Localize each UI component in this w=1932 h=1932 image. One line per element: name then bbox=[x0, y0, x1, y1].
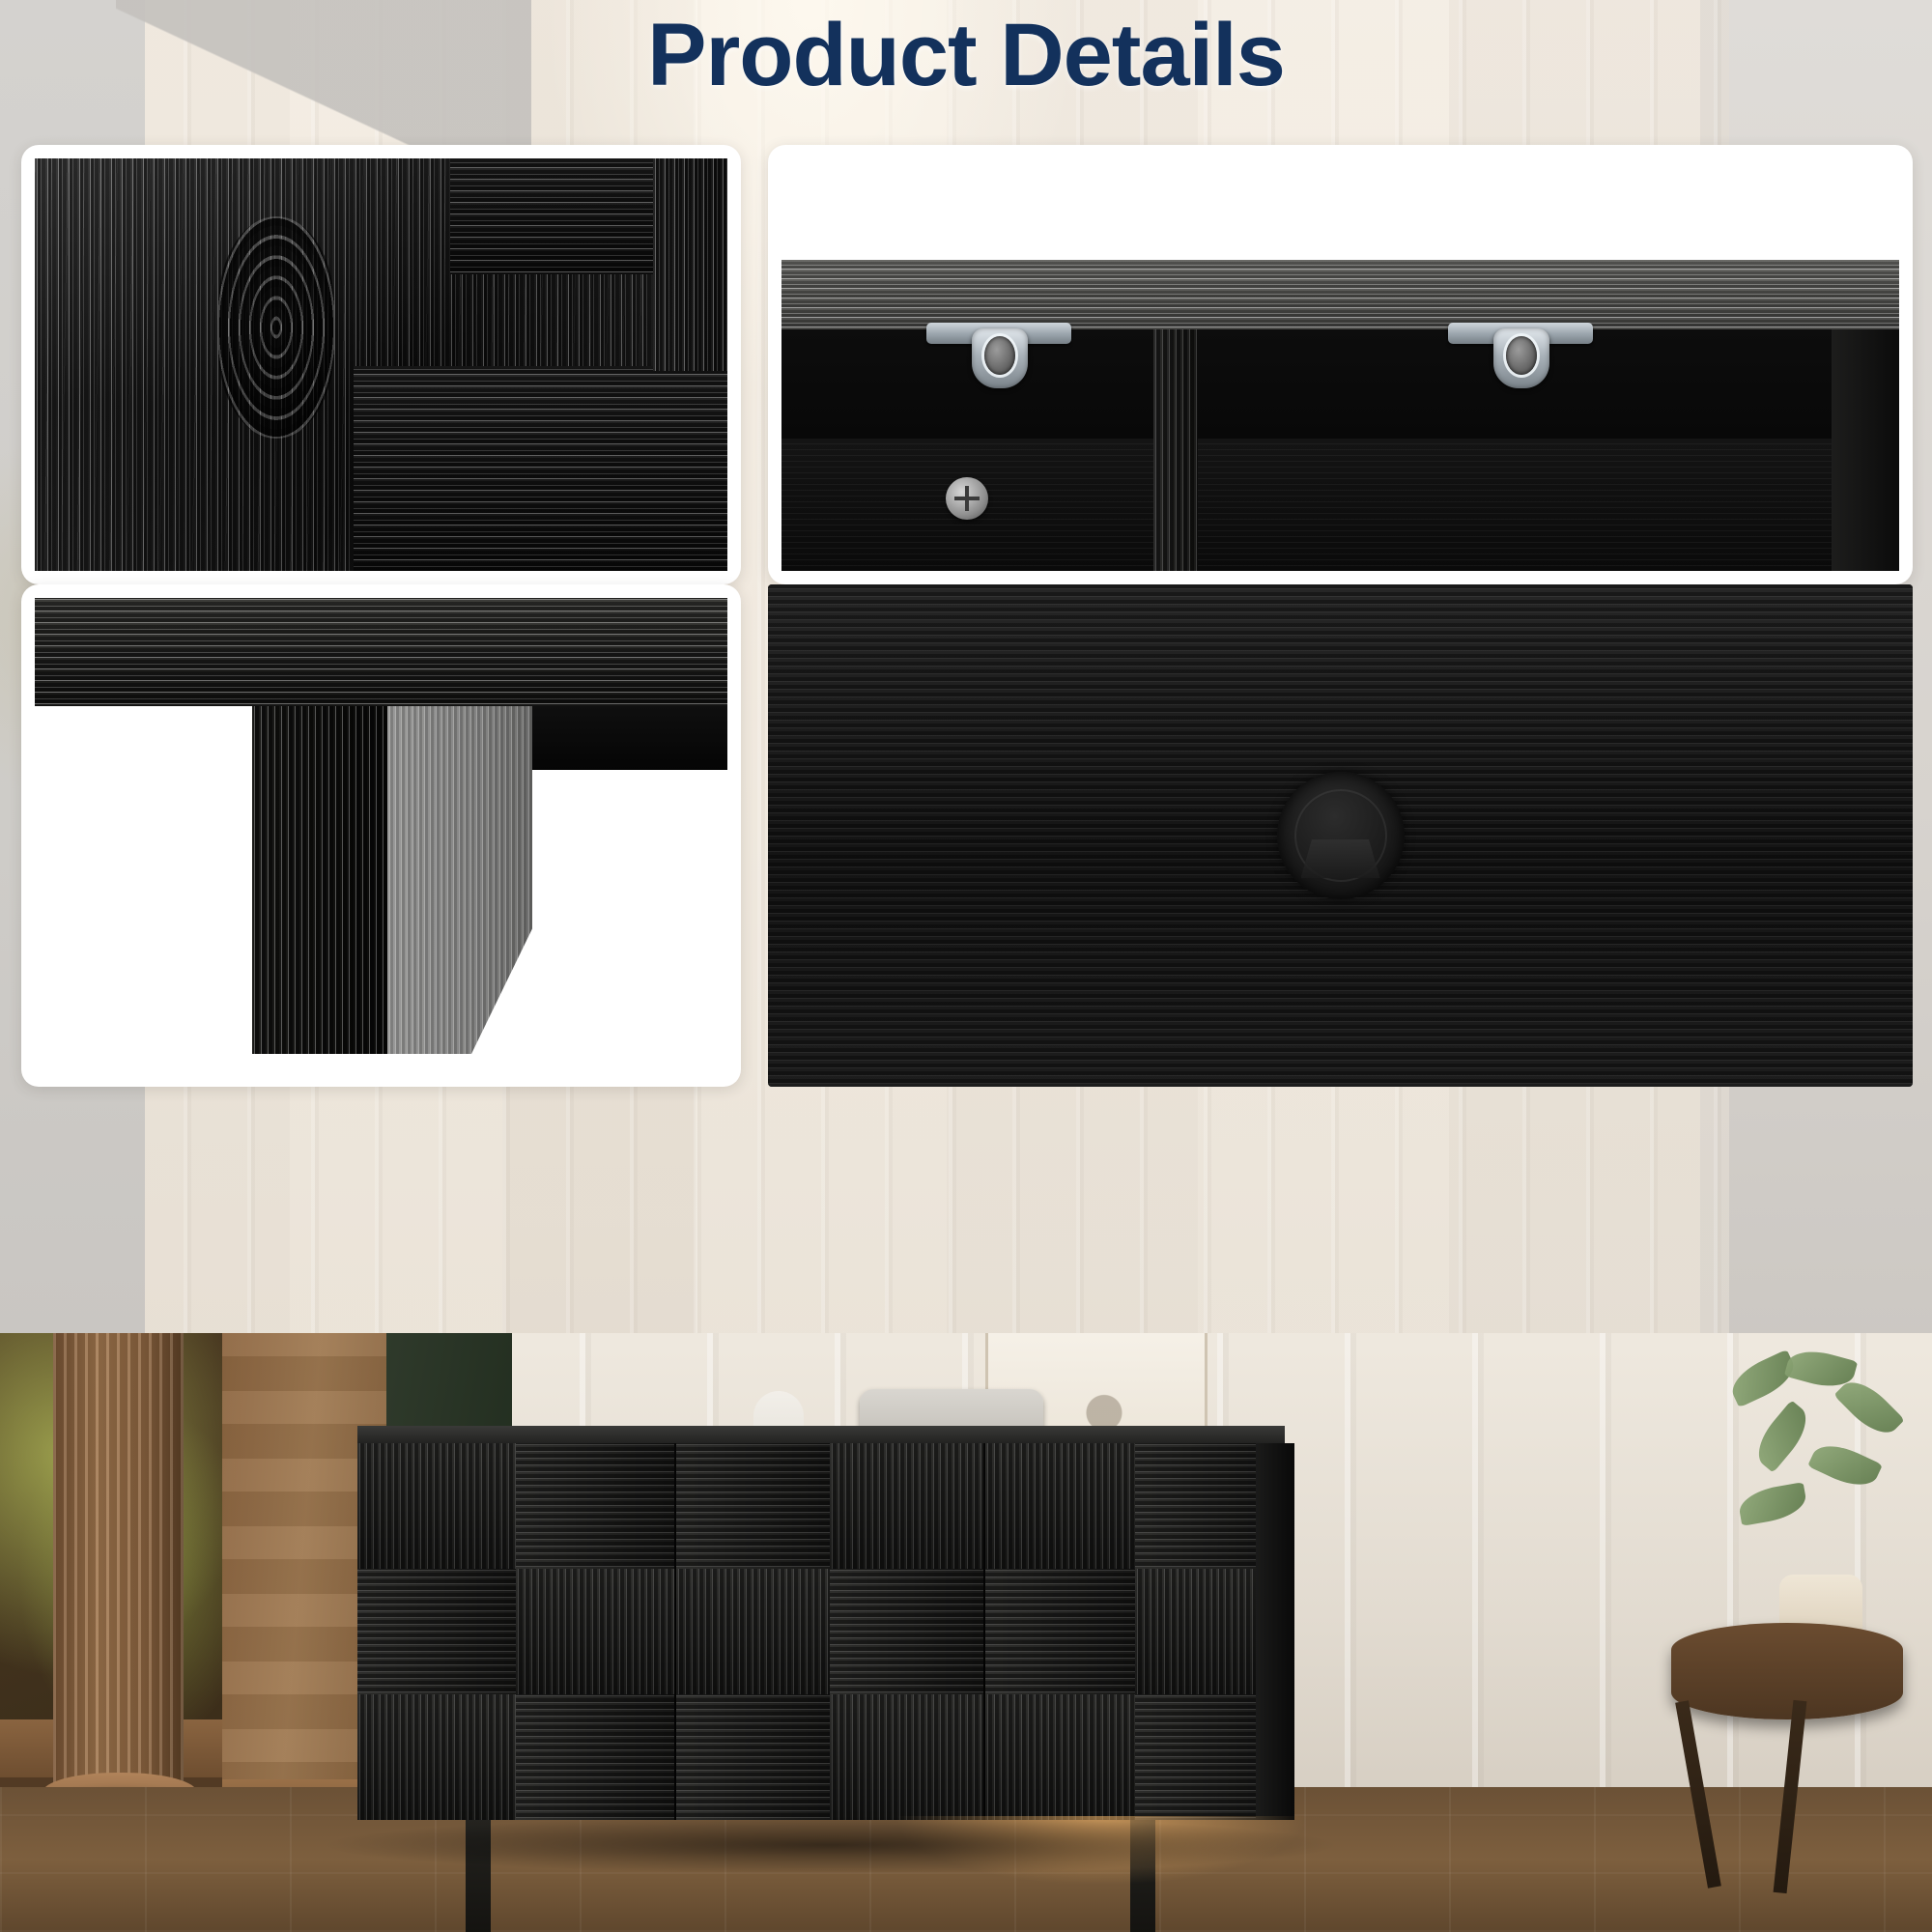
cabinet-center-divider bbox=[1153, 329, 1198, 571]
cabinet-right-post bbox=[1832, 329, 1899, 571]
feature-card-mdf-material: High Quality MDF Material Sturdy and hig… bbox=[21, 145, 741, 584]
photo-frame-wooden-base bbox=[21, 584, 741, 1087]
photo-frame-cable-hole bbox=[768, 584, 1913, 1087]
mdf-top-grain-block bbox=[450, 158, 653, 274]
mdf-wood-knot bbox=[218, 216, 334, 439]
door-grain-tile bbox=[676, 1694, 830, 1820]
door-grain-tile bbox=[985, 1443, 1135, 1569]
plant-leaf bbox=[1807, 1436, 1883, 1494]
cabinet-screw-head bbox=[946, 477, 988, 520]
sideboard-door-right[interactable] bbox=[985, 1443, 1285, 1820]
cabinet-top-rail bbox=[781, 260, 1899, 329]
door-grain-tile bbox=[985, 1694, 1135, 1820]
feature-card-wooden-bases: Sturdy Engineering Wooden Bases Good dur… bbox=[21, 584, 741, 1087]
latch-bore bbox=[984, 336, 1015, 375]
wooden-base-leg-dark-face bbox=[252, 706, 387, 1054]
photo-frame-rebound bbox=[768, 145, 1913, 584]
door-grain-tile bbox=[676, 1443, 830, 1569]
cable-grommet-flap bbox=[1301, 839, 1380, 878]
sideboard-right-side-panel bbox=[1256, 1443, 1294, 1820]
door-grain-tile bbox=[830, 1694, 983, 1820]
door-grain-tile bbox=[676, 1569, 830, 1694]
wooden-base-leg-light-face bbox=[387, 706, 532, 1054]
door-grain-tile bbox=[830, 1443, 983, 1569]
photo-frame-mdf bbox=[21, 145, 741, 584]
sideboard-door-left[interactable] bbox=[357, 1443, 676, 1820]
page-title: Product Details bbox=[0, 8, 1932, 103]
cabinet-bottom-slab bbox=[35, 598, 727, 706]
sideboard-door-center[interactable] bbox=[676, 1443, 985, 1820]
plant-leaf bbox=[1747, 1400, 1816, 1472]
mdf-wood-grain-closeup-image bbox=[35, 158, 727, 571]
feature-card-rebound-device: Door Panel Rebound Device Easy and silen… bbox=[768, 145, 1913, 584]
cable-grommet bbox=[1277, 772, 1405, 899]
door-rebound-latch-closeup-image bbox=[781, 158, 1899, 571]
door-grain-tile bbox=[357, 1569, 516, 1694]
scene-round-side-table bbox=[1671, 1623, 1903, 1719]
door-grain-tile bbox=[985, 1569, 1135, 1694]
wooden-base-leg-closeup-image bbox=[35, 598, 727, 1073]
scene-fluted-column bbox=[53, 1333, 184, 1816]
black-sideboard bbox=[357, 1426, 1285, 1841]
door-grain-tile bbox=[357, 1443, 516, 1569]
lifestyle-room-scene bbox=[0, 1333, 1932, 1932]
mdf-vertical-grain-block bbox=[653, 158, 727, 371]
rebound-latch-right bbox=[1448, 323, 1593, 394]
feature-grid: High Quality MDF Material Sturdy and hig… bbox=[0, 145, 1932, 1333]
rebound-latch-left bbox=[926, 323, 1071, 394]
door-grain-tile bbox=[357, 1694, 516, 1820]
plant-leaf bbox=[1737, 1482, 1809, 1526]
door-grain-tile bbox=[516, 1694, 674, 1820]
feature-card-cable-holes: Three Cable Holes Convenient for wiring … bbox=[768, 584, 1913, 1087]
sideboard-floor-shadow bbox=[319, 1816, 1343, 1874]
latch-bore bbox=[1506, 336, 1537, 375]
door-grain-tile bbox=[516, 1569, 674, 1694]
mdf-horizontal-grain-block bbox=[354, 366, 727, 571]
sideboard-body bbox=[357, 1443, 1285, 1820]
door-grain-tile bbox=[516, 1443, 674, 1569]
cable-hole-grommet-closeup-image bbox=[768, 584, 1913, 1087]
door-grain-tile bbox=[830, 1569, 983, 1694]
